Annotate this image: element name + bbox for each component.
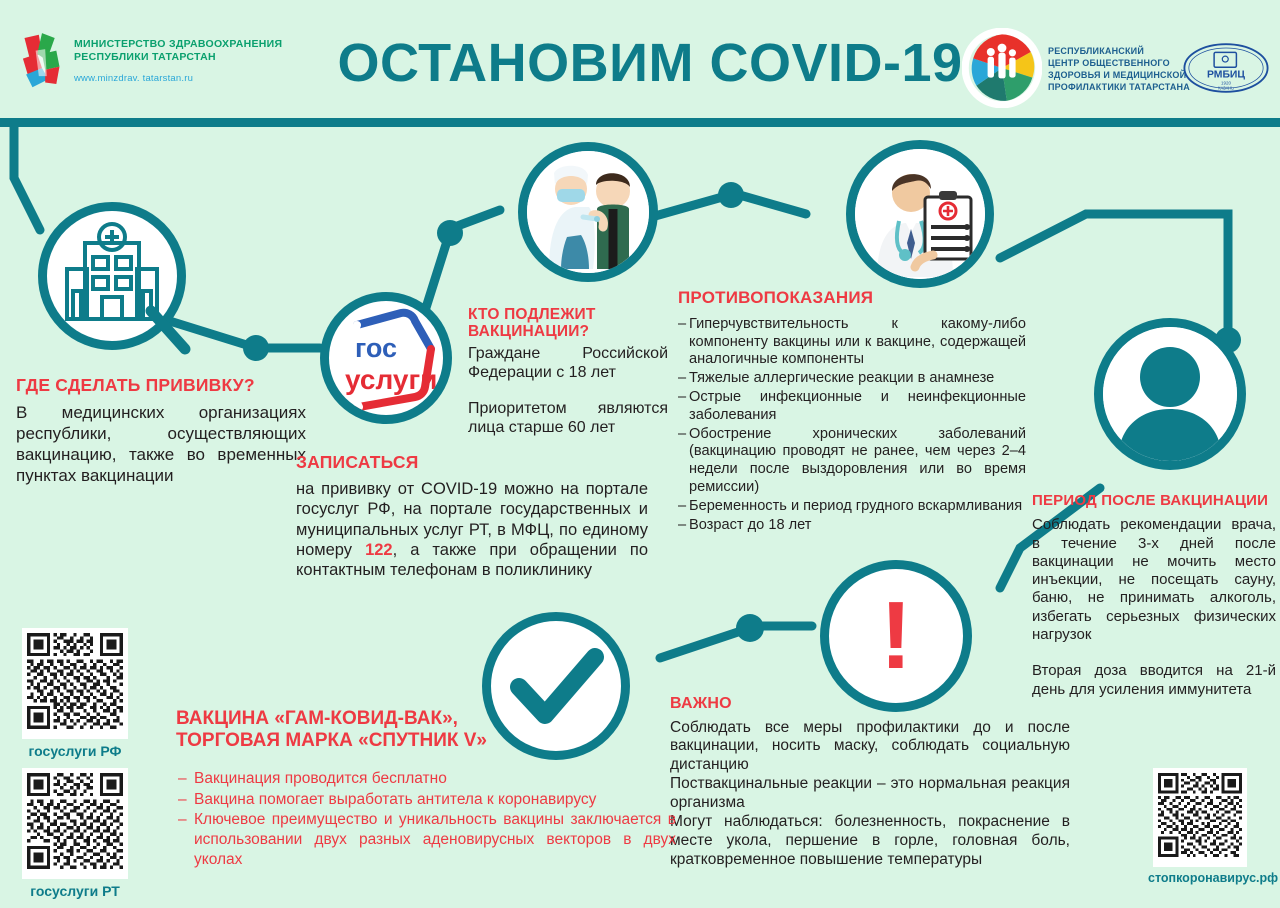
page-title: ОСТАНОВИМ COVID-19 (320, 28, 980, 98)
qr-gosuslugi-rt[interactable] (22, 768, 128, 879)
ministry-line-1: МИНИСТЕРСТВО ЗДРАВООХРАНЕНИЯ (74, 38, 284, 51)
list-item: Вакцинация проводится бесплатно (176, 769, 676, 789)
contraindications-list: Гиперчувствительность к какому-либо комп… (678, 316, 1026, 535)
block-vaccine: ВАКЦИНА «ГАМ-КОВИД-ВАК», ТОРГОВАЯ МАРКА … (176, 708, 676, 871)
list-item: Тяжелые аллергические реакции в анамнезе (678, 370, 1026, 388)
qr-code-image[interactable] (1158, 773, 1242, 857)
list-item: Обострение хронических заболеваний (вакц… (678, 426, 1026, 497)
gosuslugi-line-2: услуги (345, 364, 437, 395)
qr-code-image[interactable] (27, 633, 123, 729)
after-spacer (1032, 644, 1276, 662)
who-body-1: Граждане Российской Федерации с 18 лет (468, 344, 668, 383)
ministry-name: МИНИСТЕРСТВО ЗДРАВООХРАНЕНИЯ РЕСПУБЛИКИ … (74, 38, 284, 84)
vaccine-title-line-1: ВАКЦИНА «ГАМ-КОВИД-ВАК», (176, 708, 676, 730)
ministry-line-2: РЕСПУБЛИКИ ТАТАРСТАН (74, 51, 284, 64)
svg-text:РМБИЦ: РМБИЦ (1207, 70, 1245, 81)
list-item: Возраст до 18 лет (678, 517, 1026, 535)
vaccine-title-line-2: ТОРГОВАЯ МАРКА «СПУТНИК V» (176, 730, 676, 752)
qr-stopkoronavirus[interactable] (1153, 768, 1247, 867)
node-gosuslugi[interactable]: гос услуги (320, 292, 452, 424)
list-item: Беременность и период грудного вскармлив… (678, 498, 1026, 516)
svg-text:1920: 1920 (1221, 80, 1231, 85)
vaccine-list: Вакцинация проводится бесплатно Вакцина … (176, 769, 676, 870)
who-spacer (468, 383, 668, 399)
signup-body: на прививку от COVID-19 можно на портале… (296, 479, 648, 580)
block-contraindications: ПРОТИВОПОКАЗАНИЯ Гиперчувствительность к… (678, 288, 1026, 535)
qr-stopkoronavirus-block[interactable]: стопкоронавирус.рф (1148, 768, 1252, 885)
node-exclamation: ! (820, 560, 972, 712)
where-heading: ГДЕ СДЕЛАТЬ ПРИВИВКУ? (16, 375, 306, 396)
list-item: Вакцина помогает выработать антитела к к… (176, 790, 676, 810)
list-item: Острые инфекционные и неинфекционные заб… (678, 389, 1026, 425)
rmbic-logo-icon: РМБИЦ 1920 КАЗАНЬ (1180, 42, 1272, 94)
block-who-eligible: КТО ПОДЛЕЖИТ ВАКЦИНАЦИИ? Граждане Россий… (468, 306, 668, 438)
qr-gosuslugi-rf[interactable] (22, 628, 128, 739)
who-heading: КТО ПОДЛЕЖИТ ВАКЦИНАЦИИ? (468, 306, 668, 341)
contraindications-heading: ПРОТИВОПОКАЗАНИЯ (678, 288, 1026, 309)
exclamation-mark: ! (829, 569, 963, 703)
block-important: ВАЖНО Соблюдать все меры профилактики до… (670, 694, 1070, 870)
block-after-vaccination: ПЕРИОД ПОСЛЕ ВАКЦИНАЦИИ Соблюдать рекоме… (1032, 492, 1276, 699)
poster-header: МИНИСТЕРСТВО ЗДРАВООХРАНЕНИЯ РЕСПУБЛИКИ … (0, 0, 1280, 118)
qr-gosuslugi-rf-label: госуслуги РФ (22, 743, 128, 759)
important-heading: ВАЖНО (670, 694, 1070, 714)
qr-gosuslugi-rf-block[interactable]: госуслуги РФ (22, 628, 128, 759)
qr-code-image[interactable] (27, 773, 123, 869)
list-item: Гиперчувствительность к какому-либо комп… (678, 316, 1026, 369)
ministry-logo-icon (18, 30, 66, 92)
rcoz-emblem-icon (962, 28, 1042, 108)
signup-phone-number: 122 (365, 541, 393, 559)
gosuslugi-line-1: гос (355, 333, 397, 363)
who-body-2: Приоритетом являются лица старше 60 лет (468, 399, 668, 438)
where-body: В медицинских организациях республики, о… (16, 403, 306, 486)
svg-text:КАЗАНЬ: КАЗАНЬ (1218, 86, 1234, 91)
after-heading: ПЕРИОД ПОСЛЕ ВАКЦИНАЦИИ (1032, 492, 1276, 510)
block-signup: ЗАПИСАТЬСЯ на прививку от COVID-19 можно… (296, 452, 648, 580)
qr-gosuslugi-rt-label: госуслуги РТ (22, 883, 128, 899)
ministry-url[interactable]: www.minzdrav. tatarstan.ru (74, 73, 284, 84)
magnifier-handle-icon (145, 305, 205, 365)
qr-gosuslugi-rt-block[interactable]: госуслуги РТ (22, 768, 128, 899)
important-body-1: Соблюдать все меры профилактики до и пос… (670, 719, 1070, 776)
list-item: Ключевое преимущество и уникальность вак… (176, 810, 676, 869)
node-doctor-clipboard (846, 140, 994, 288)
important-body-2: Поствакцинальные реакции – это нормальна… (670, 775, 1070, 813)
qr-stopkoronavirus-label: стопкоронавирус.рф (1148, 871, 1252, 885)
block-where-to-vaccinate: ГДЕ СДЕЛАТЬ ПРИВИВКУ? В медицинских орга… (16, 375, 306, 486)
node-person-avatar (1094, 318, 1246, 470)
important-body-3: Могут наблюдаться: болезненность, покрас… (670, 813, 1070, 870)
node-vaccination-scene (518, 142, 658, 282)
signup-heading: ЗАПИСАТЬСЯ (296, 452, 648, 473)
after-body-1: Соблюдать рекомендации врача, в течение … (1032, 516, 1276, 644)
infographic-poster: МИНИСТЕРСТВО ЗДРАВООХРАНЕНИЯ РЕСПУБЛИКИ … (0, 0, 1280, 905)
